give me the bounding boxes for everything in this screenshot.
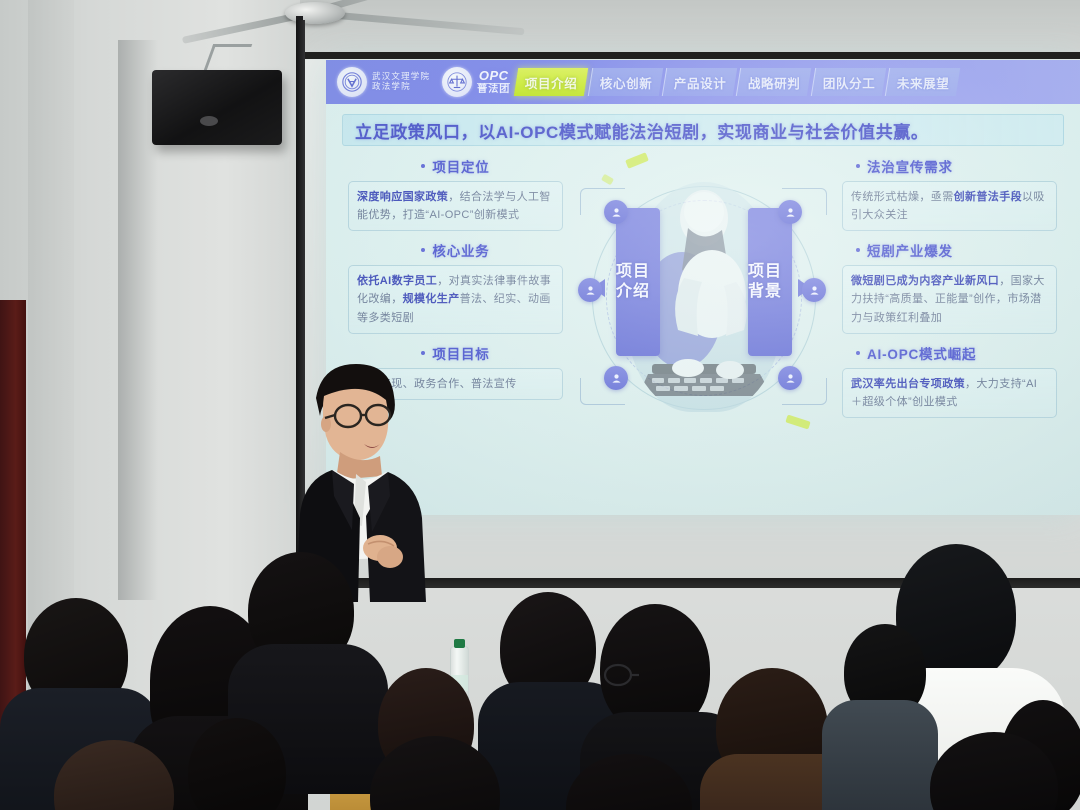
center-hub-diagram: 项目介绍 项目背景 [570,164,836,432]
hub-label-left-text: 项目介绍 [616,262,660,302]
slide-tab-list: 项目介绍 核心创新 产品设计 战略研判 团队分工 未来展望 [516,67,1080,97]
person-glyph [610,206,623,219]
node-title: 法治宣传需求 [842,156,1057,176]
audience [0,540,1080,810]
headline-text: 立足政策风口，以AI-OPC模式赋能法治短剧，实现商业与社会价值共赢。 [355,118,929,143]
hub-label-left: 项目介绍 [616,208,660,356]
law-scales-glyph [446,71,468,93]
person-badge-icon [578,278,602,302]
university-line2: 政法学院 [372,82,430,92]
audience-glasses-icon [602,658,672,692]
tab-outlook[interactable]: 未来展望 [885,68,961,96]
tab-core-innovation[interactable]: 核心创新 [587,68,663,96]
bullet-dot-icon [856,248,860,252]
bullet-dot-icon [856,351,860,355]
node-body: 传统形式枯燥，亟需创新普法手段以吸引大众关注 [842,181,1057,231]
hub-label-right: 项目背景 [748,208,792,356]
tab-strategy[interactable]: 战略研判 [736,68,812,96]
person-glyph [610,372,623,385]
person-badge-icon [778,200,802,224]
node-title-text: 核心业务 [432,240,489,260]
node-title-text: 短剧产业爆发 [867,240,953,260]
audience-body [822,700,938,810]
slide-navbar: 武汉文理学院 政法学院 OPC 普法团 项目介绍 核心创新 产品设计 战略研判 … [326,60,1080,104]
university-seal-icon [337,67,367,97]
node-title-text: 法治宣传需求 [867,156,953,176]
bullet-dot-icon [421,248,425,252]
node-ai-opc-rise: AI-OPC模式崛起 武汉率先出台专项政策，大力支持“AI＋超级个体”创业模式 [842,343,1057,418]
node-body: 深度响应国家政策，结合法学与人工智能优势，打造“AI-OPC”创新模式 [348,181,563,231]
person-glyph [584,284,597,297]
seal-glyph [341,71,363,93]
person-glyph [784,372,797,385]
university-name: 武汉文理学院 政法学院 [372,72,430,91]
person-badge-icon [604,200,628,224]
tab-label: 战略研判 [748,73,800,92]
tab-label: 核心创新 [600,73,652,92]
tab-label: 未来展望 [897,73,949,92]
opc-team-name: 普法团 [477,83,510,96]
node-project-positioning: 项目定位 深度响应国家政策，结合法学与人工智能优势，打造“AI-OPC”创新模式 [348,156,563,231]
bottle-cap [454,639,465,648]
node-body: 武汉率先出台专项政策，大力支持“AI＋超级个体”创业模式 [842,368,1057,418]
bullet-dot-icon [856,164,860,168]
wall-speaker [152,70,282,145]
node-body: 依托AI数字员工，对真实法律事件故事化改编，规模化生产普法、纪实、动画等多类短剧 [348,265,563,333]
slide-headline: 立足政策风口，以AI-OPC模式赋能法治短剧，实现商业与社会价值共赢。 [342,114,1064,146]
node-title: 项目定位 [348,156,563,176]
right-node-column: 法治宣传需求 传统形式枯燥，亟需创新普法手段以吸引大众关注 短剧产业爆发 微短剧… [842,156,1057,427]
opc-acronym: OPC [479,69,509,83]
tab-project-intro[interactable]: 项目介绍 [514,68,589,96]
node-core-business: 核心业务 依托AI数字员工，对真实法律事件故事化改编，规模化生产普法、纪实、动画… [348,240,563,333]
person-glyph [808,284,821,297]
node-title-text: AI-OPC模式崛起 [867,343,976,363]
person-badge-icon [778,366,802,390]
tab-label: 团队分工 [823,73,875,92]
tab-label: 产品设计 [674,73,726,92]
tab-product-design[interactable]: 产品设计 [662,68,738,96]
node-title-text: 项目定位 [432,156,489,176]
node-title: AI-OPC模式崛起 [842,343,1057,363]
ceiling-fan [285,2,345,24]
hub-label-right-text: 项目背景 [748,262,792,302]
node-legal-publicity-demand: 法治宣传需求 传统形式枯燥，亟需创新普法手段以吸引大众关注 [842,156,1057,231]
person-badge-icon [802,278,826,302]
node-title: 核心业务 [348,240,563,260]
opc-logo: OPC 普法团 [477,69,510,95]
node-body: 微短剧已成为内容产业新风口，国家大力扶持“高质量、正能量”创作，市场潜力与政策红… [842,265,1057,333]
node-short-drama-boom: 短剧产业爆发 微短剧已成为内容产业新风口，国家大力扶持“高质量、正能量”创作，市… [842,240,1057,333]
speaker-cone [200,116,218,126]
tab-team[interactable]: 团队分工 [811,68,887,96]
screen-top-frame [300,52,1080,59]
screenshot-root: 武汉文理学院 政法学院 OPC 普法团 项目介绍 核心创新 产品设计 战略研判 … [0,0,1080,810]
node-title: 短剧产业爆发 [842,240,1057,260]
law-seal-icon [442,67,472,97]
bullet-dot-icon [421,164,425,168]
person-badge-icon [604,366,628,390]
person-glyph [784,206,797,219]
tab-label: 项目介绍 [525,73,577,92]
